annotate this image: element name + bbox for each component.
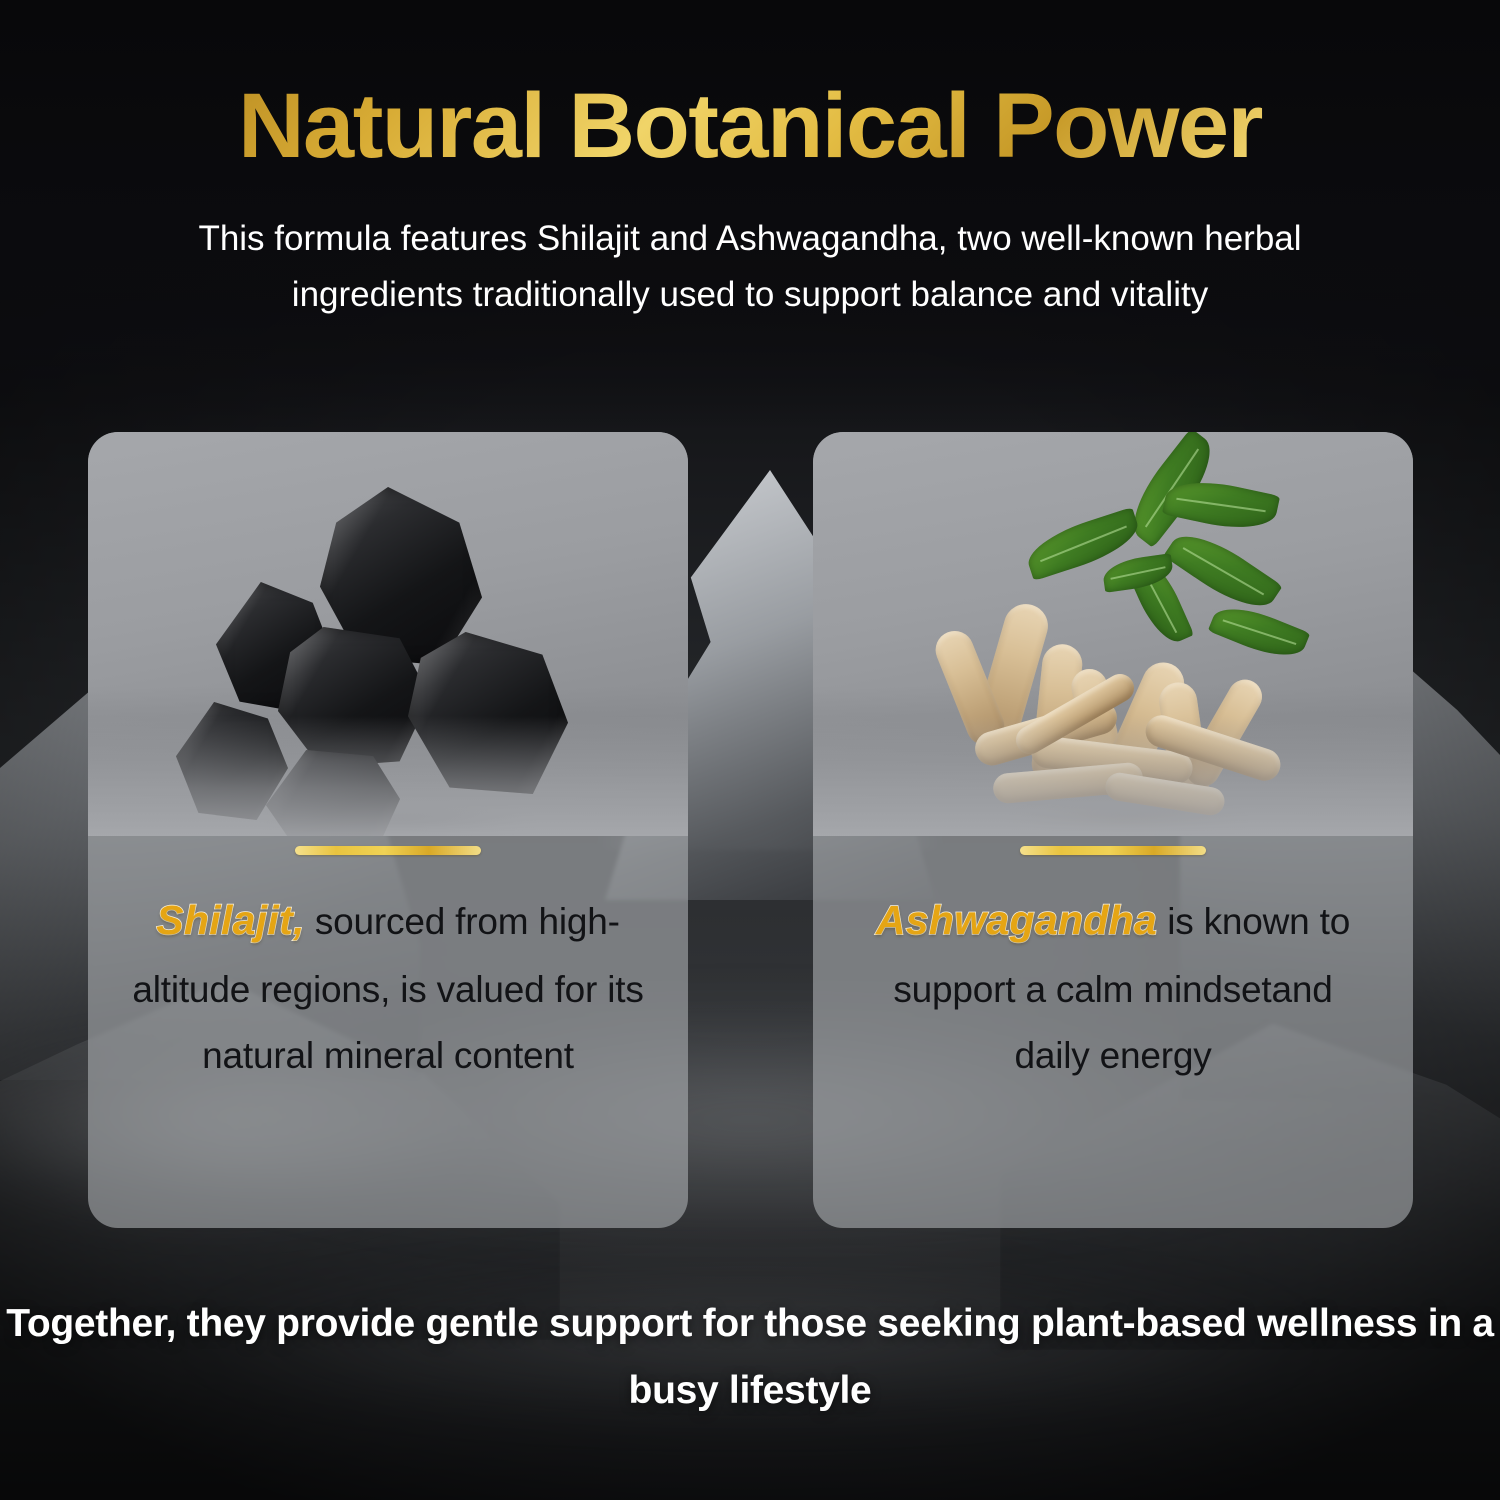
footer-tagline: Together, they provide gentle support fo… bbox=[0, 1290, 1500, 1424]
ashwagandha-description: Ashwagandha is known to support a calm m… bbox=[853, 884, 1373, 1089]
infographic-poster: Natural Botanical Power This formula fea… bbox=[0, 0, 1500, 1500]
ingredient-name-shilajit: Shilajit, bbox=[156, 897, 305, 943]
header: Natural Botanical Power This formula fea… bbox=[0, 0, 1500, 324]
page-title: Natural Botanical Power bbox=[0, 0, 1500, 175]
photo-bottom-fade bbox=[813, 716, 1413, 836]
ashwagandha-roots-photo bbox=[813, 432, 1413, 836]
gold-divider bbox=[295, 846, 481, 855]
ingredient-cards: Shilajit, sourced from high-altitude reg… bbox=[88, 432, 1413, 1228]
ingredient-name-ashwagandha: Ashwagandha bbox=[876, 897, 1157, 943]
page-subtitle: This formula features Shilajit and Ashwa… bbox=[150, 211, 1350, 324]
shilajit-description: Shilajit, sourced from high-altitude reg… bbox=[128, 884, 648, 1089]
shilajit-rocks-photo bbox=[88, 432, 688, 836]
ingredient-card-ashwagandha[interactable]: Ashwagandha is known to support a calm m… bbox=[813, 432, 1413, 1228]
ingredient-card-shilajit[interactable]: Shilajit, sourced from high-altitude reg… bbox=[88, 432, 688, 1228]
gold-divider bbox=[1020, 846, 1206, 855]
photo-bottom-fade bbox=[88, 716, 688, 836]
